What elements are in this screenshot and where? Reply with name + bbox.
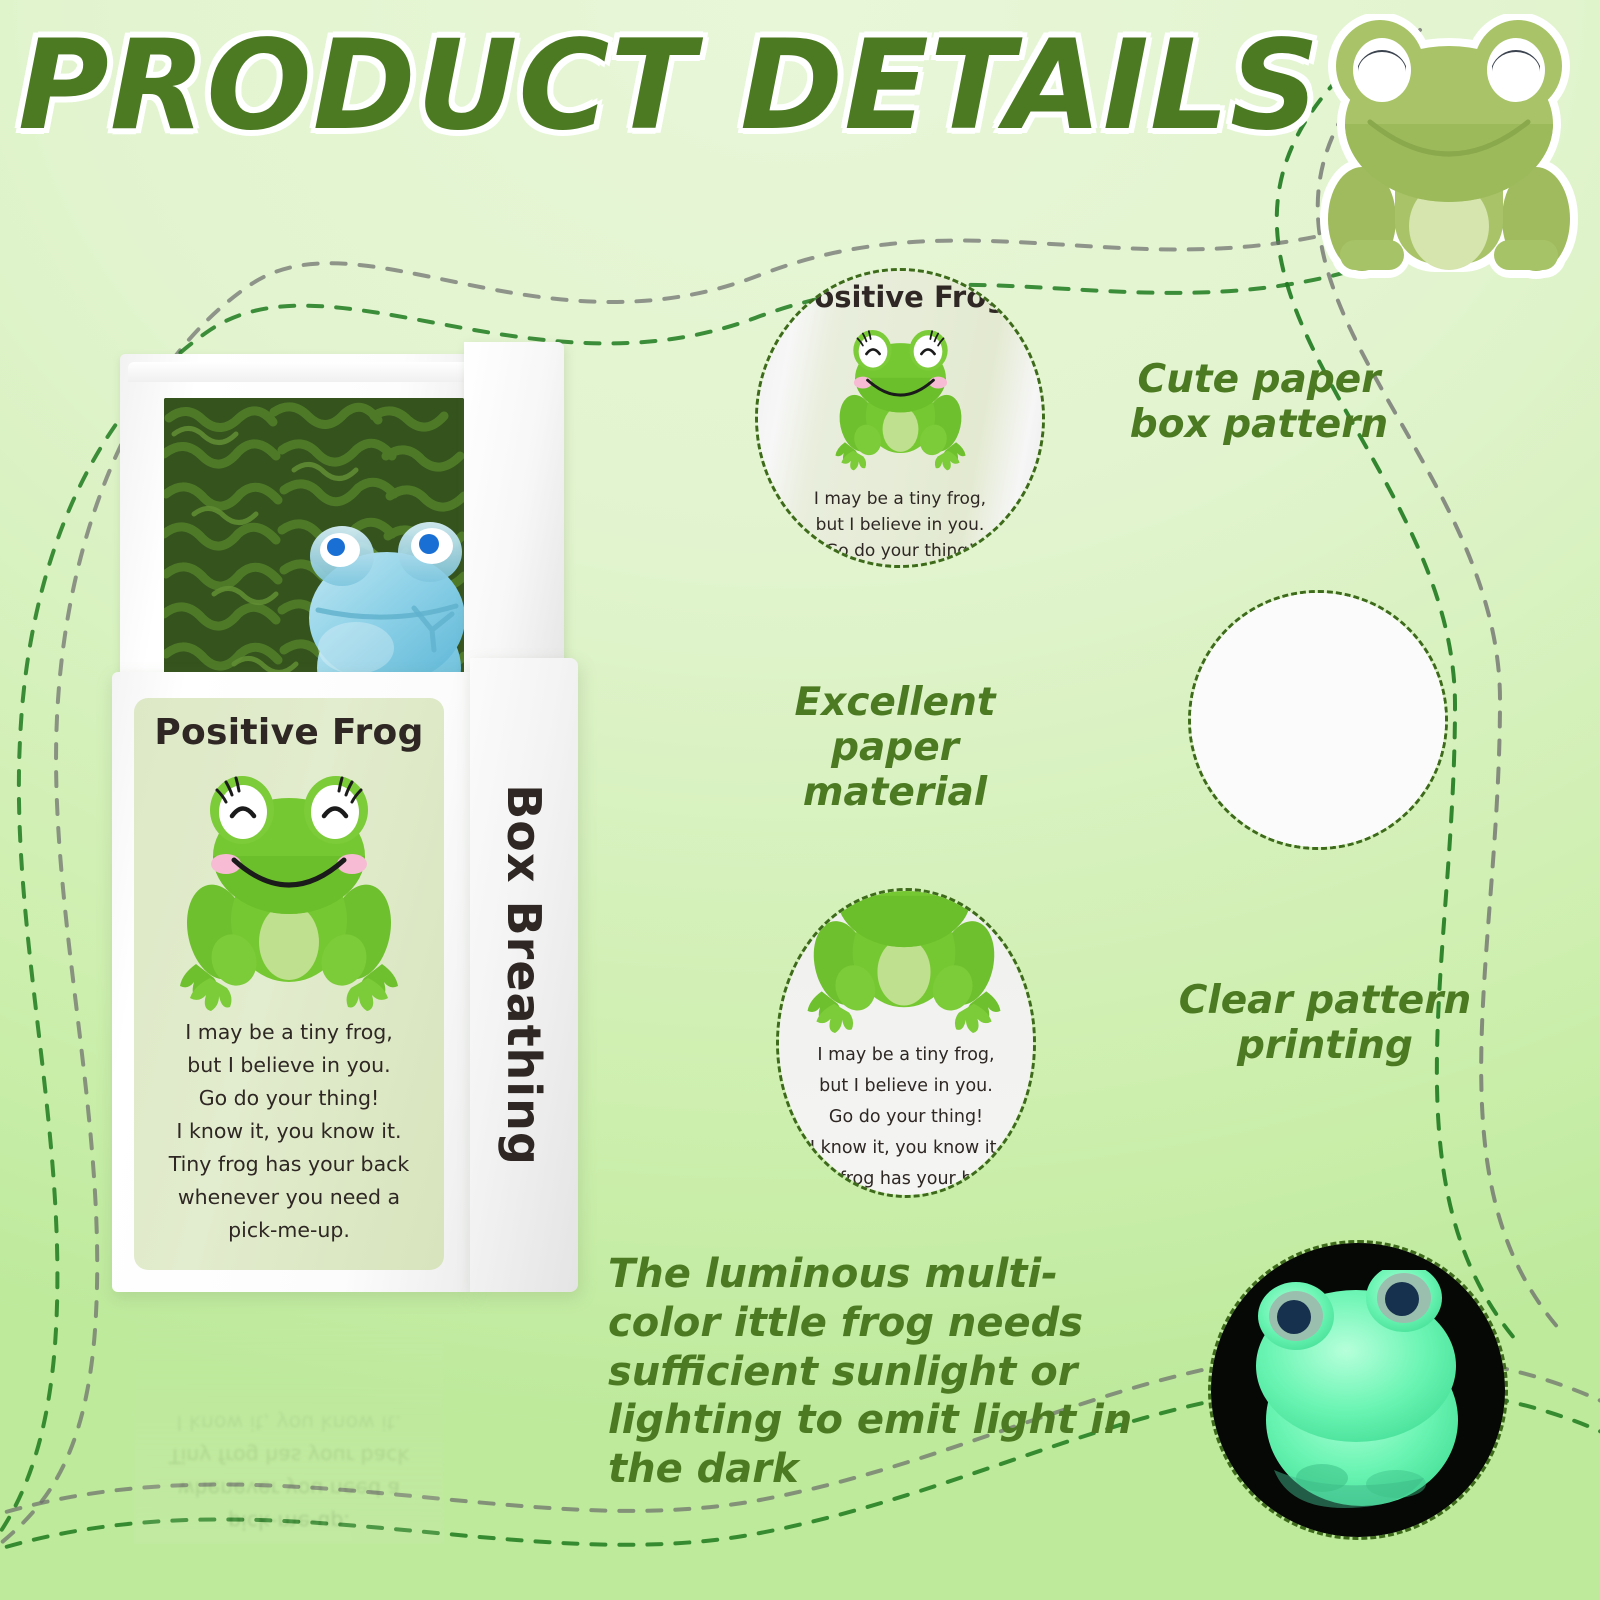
poem-line: pick-me-up. xyxy=(142,1214,436,1247)
callout1-poem: I may be a tiny frog, but I believe in y… xyxy=(765,486,1035,564)
page-title: PRODUCT DETAILS xyxy=(18,22,1258,150)
box-lid-side xyxy=(464,342,564,686)
glow-in-the-dark-frog-photo xyxy=(1244,1270,1479,1510)
poem-line: whenever you need a xyxy=(142,1181,436,1214)
poem-line: I may be a tiny frog, xyxy=(142,1016,436,1049)
frog-mascot-icon xyxy=(1300,14,1600,284)
poem-line: Go do your thing! xyxy=(765,538,1035,564)
callout-image-box-pattern: Positive Frog xyxy=(755,268,1045,568)
poem-line: frog has your b xyxy=(782,1164,1030,1195)
reflection-panel: pick-me-up. whenever you need a Tiny fro… xyxy=(134,1304,444,1544)
reflection-text: pick-me-up. whenever you need a Tiny fro… xyxy=(142,1406,436,1538)
label-poem: I may be a tiny frog, but I believe in y… xyxy=(142,1016,436,1247)
callout1-frog-icon xyxy=(833,320,968,475)
callout1-title: Positive Frog xyxy=(755,280,1045,314)
box-side-text: Box Breathing xyxy=(497,784,551,1166)
reflection-line: I know it, you know it. xyxy=(142,1406,436,1439)
poem-line: but I believe in you. xyxy=(782,1071,1030,1102)
callout4-label: The luminous multi-color ittle frog need… xyxy=(608,1250,1168,1494)
box-side-panel: Box Breathing xyxy=(470,658,578,1292)
label-title: Positive Frog xyxy=(134,712,444,753)
poem-line: I may be a tiny frog, xyxy=(782,1040,1030,1071)
reflection-line: Tiny frog has your back xyxy=(142,1439,436,1472)
callout-image-pattern-printing: I may be a tiny frog, but I believe in y… xyxy=(776,888,1036,1198)
box-front-label: Positive Frog xyxy=(134,698,444,1270)
poem-line: Tiny frog has your back xyxy=(142,1148,436,1181)
box-interior xyxy=(164,398,464,686)
poem-line: Go do your thing! xyxy=(782,1102,1030,1133)
poem-line: but I believe in you. xyxy=(765,512,1035,538)
callout2-label: Excellent paper material xyxy=(735,680,1055,816)
callout3-poem: I may be a tiny frog, but I believe in y… xyxy=(782,1040,1030,1195)
callout1-label: Cute paper box pattern xyxy=(1094,357,1424,447)
poem-line: I know it, you know it. xyxy=(142,1115,436,1148)
callout-image-glow-frog xyxy=(1208,1240,1508,1540)
box-lid-top-edge xyxy=(128,362,474,382)
callout3-frog-icon xyxy=(804,888,1004,1040)
callout3-label: Clear pattern printing xyxy=(1160,978,1490,1068)
reflection-line: pick-me-up. xyxy=(142,1505,436,1538)
printed-frog-icon xyxy=(176,764,402,1014)
product-photo: Box Breathing Positive Frog xyxy=(112,342,592,1332)
callout-image-paper-material xyxy=(1188,590,1448,850)
poem-line: I may be a tiny frog, xyxy=(765,486,1035,512)
box-reflection: pick-me-up. whenever you need a Tiny fro… xyxy=(112,1294,582,1544)
box-lid xyxy=(120,354,470,674)
page-title-wrap: PRODUCT DETAILS xyxy=(18,22,1258,152)
poem-line: but I believe in you. xyxy=(142,1049,436,1082)
reflection-line: whenever you need a xyxy=(142,1472,436,1505)
poem-line: I know it, you know it. xyxy=(782,1133,1030,1164)
blue-crystal-frog-figurine xyxy=(284,518,464,686)
poem-line: Go do your thing! xyxy=(142,1082,436,1115)
